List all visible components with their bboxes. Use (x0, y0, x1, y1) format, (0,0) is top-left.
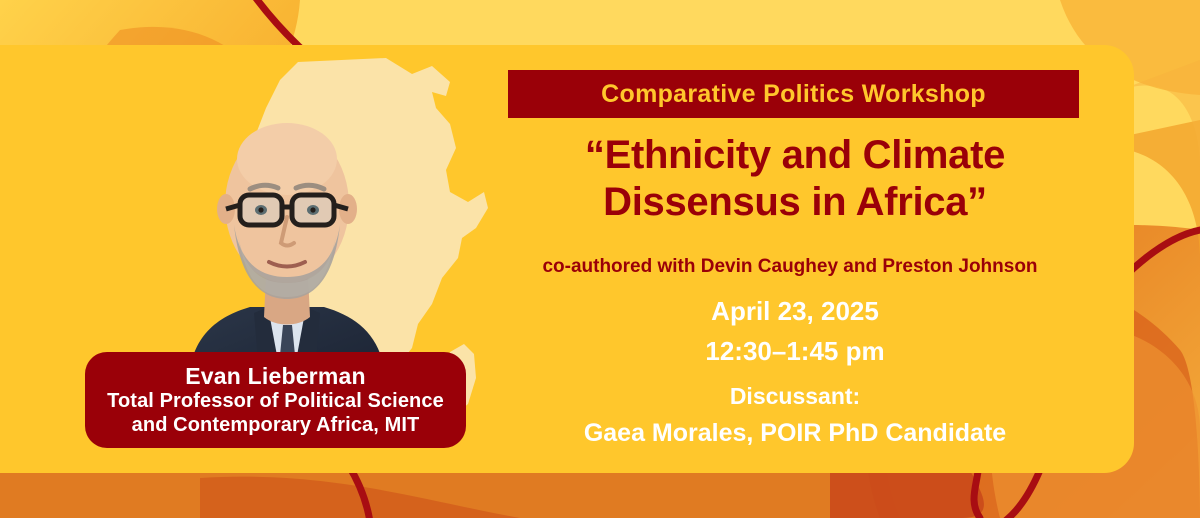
workshop-label-bar: Comparative Politics Workshop (508, 70, 1079, 118)
speaker-title-line1: Total Professor of Political Science (107, 390, 444, 414)
discussant-label: Discussant: (495, 383, 1095, 410)
workshop-label: Comparative Politics Workshop (601, 80, 986, 109)
event-banner: Evan Lieberman Total Professor of Politi… (0, 0, 1200, 518)
speaker-title-line2: and Contemporary Africa, MIT (132, 414, 420, 438)
talk-title: “Ethnicity and Climate Dissensus in Afri… (495, 132, 1095, 226)
discussant-name: Gaea Morales, POIR PhD Candidate (495, 419, 1095, 448)
speaker-plaque: Evan Lieberman Total Professor of Politi… (85, 352, 466, 448)
talk-title-line1: “Ethnicity and Climate (585, 133, 1005, 177)
speaker-name: Evan Lieberman (185, 363, 365, 390)
coauthors-line: co-authored with Devin Caughey and Prest… (470, 256, 1110, 278)
talk-title-line2: Dissensus in Africa” (495, 179, 1095, 226)
event-date: April 23, 2025 (495, 296, 1095, 327)
speaker-portrait (168, 85, 406, 385)
event-time: 12:30–1:45 pm (495, 336, 1095, 367)
